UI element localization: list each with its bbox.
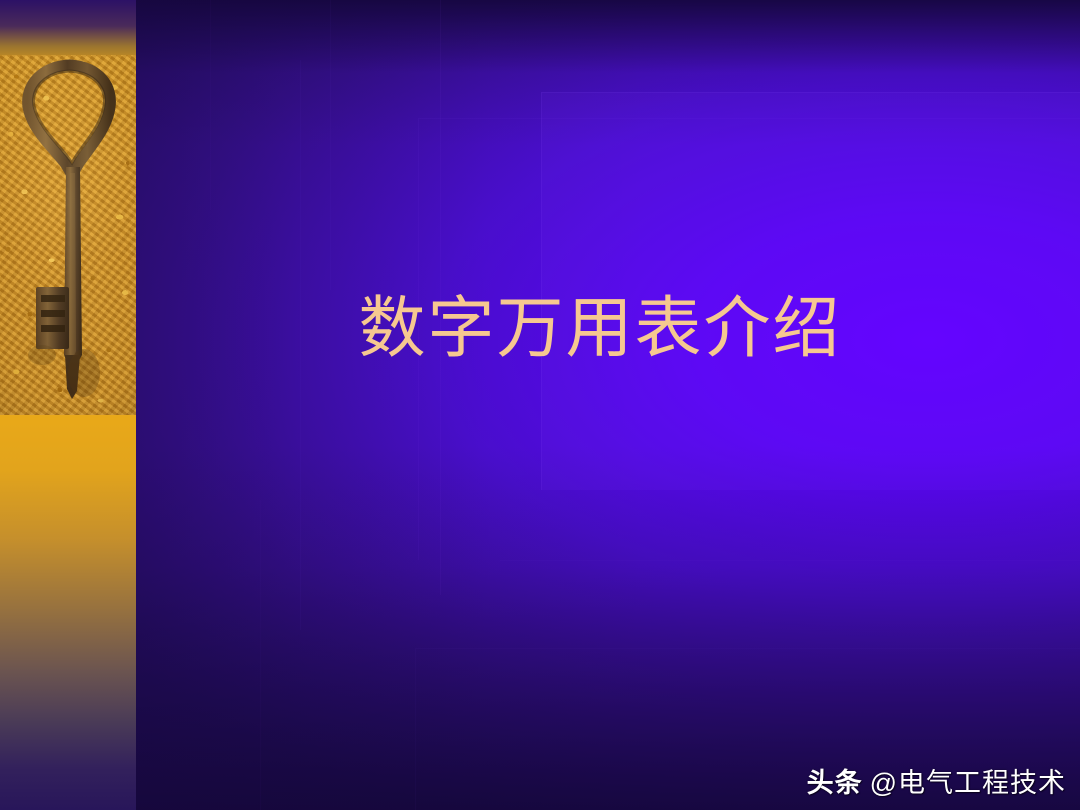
sidebar-decoration (0, 0, 136, 810)
slide-background-left-shade (0, 0, 1080, 810)
watermark-brand: 头条 (807, 761, 863, 800)
antique-key-icon (0, 55, 136, 415)
page-title: 数字万用表介绍 (150, 292, 1050, 367)
watermark-handle: @电气工程技术 (870, 761, 1066, 800)
watermark: 头条 @电气工程技术 (807, 761, 1066, 800)
key-photo (0, 55, 136, 415)
presentation-slide: 数字万用表介绍 头条 @电气工程技术 (0, 0, 1080, 810)
